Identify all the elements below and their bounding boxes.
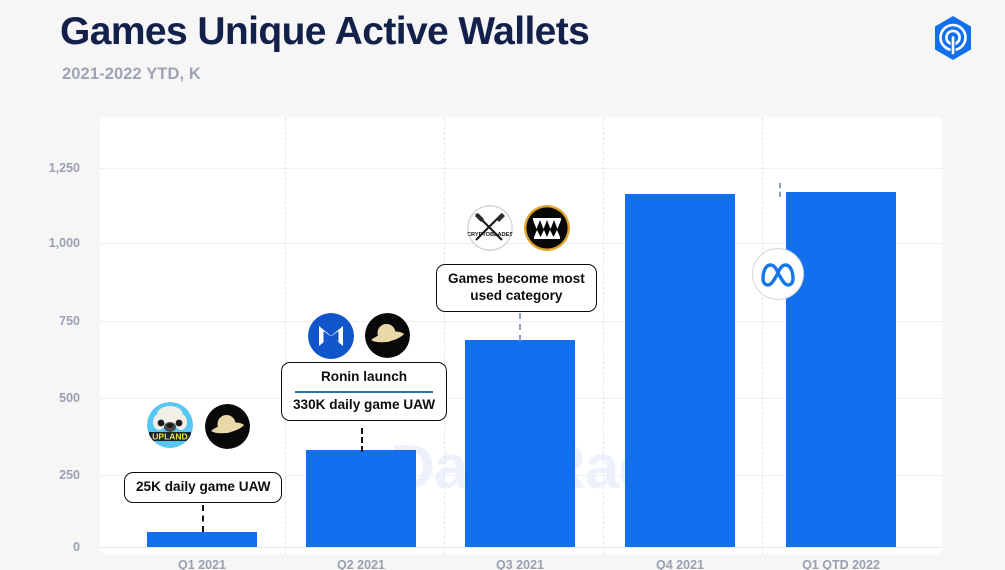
- category-separator-4: [762, 117, 763, 554]
- y-tick-500: 500: [0, 391, 80, 405]
- annotation-divider: [295, 391, 433, 393]
- category-separator-2: [444, 117, 445, 554]
- y-tick-0: 0: [0, 540, 80, 554]
- y-tick-250: 250: [0, 468, 80, 482]
- annotation-q3-line1: Games become most: [448, 271, 585, 288]
- x-tick-q1-2021: Q1 2021: [122, 558, 282, 570]
- bar-q2-2021[interactable]: [306, 450, 416, 547]
- annotation-q3-2021: Games become most used category: [436, 264, 597, 312]
- plot-area: DappRadar: [100, 117, 942, 554]
- svg-text:CRYPTOBLADES: CRYPTOBLADES: [467, 232, 513, 238]
- annotation-q2-2021: Ronin launch 330K daily game UAW: [281, 362, 447, 421]
- axie-infinity-ronin-icon: [308, 313, 354, 359]
- annotation-q2-line1: Ronin launch: [293, 369, 435, 386]
- splinterlands-planet-icon: [365, 313, 410, 358]
- svg-text:UPLAND: UPLAND: [152, 431, 187, 441]
- y-tick-1000: 1,000: [0, 236, 80, 250]
- bar-q1-qtd-2022[interactable]: [786, 192, 896, 547]
- y-tick-1250: 1,250: [0, 161, 80, 175]
- x-tick-q2-2021: Q2 2021: [281, 558, 441, 570]
- x-tick-q3-2021: Q3 2021: [440, 558, 600, 570]
- gridline-0: [100, 547, 942, 548]
- chart-header: Games Unique Active Wallets 2021-2022 YT…: [0, 0, 1005, 112]
- annotation-q1-line1: 25K daily game UAW: [136, 479, 270, 496]
- dappradar-logo-icon: [927, 12, 979, 64]
- annotation-q3-line2: used category: [448, 288, 585, 305]
- x-tick-q4-2021: Q4 2021: [600, 558, 760, 570]
- bar-q3-2021[interactable]: [465, 340, 575, 547]
- splinterlands-planet-icon: [205, 404, 250, 449]
- bar-q4-2021[interactable]: [625, 194, 735, 547]
- category-separator-1: [285, 117, 286, 554]
- annotation-leader-q4: [779, 183, 781, 197]
- wolf-game-fangs-icon: [524, 205, 570, 251]
- gridline-1250: [100, 168, 942, 169]
- annotation-leader-q1: [202, 505, 204, 532]
- category-separator-3: [603, 117, 604, 554]
- chart-panel: DappRadar: [100, 117, 942, 554]
- chart-subtitle: 2021-2022 YTD, K: [62, 65, 201, 84]
- x-tick-q1-qtd-2022: Q1 QTD 2022: [761, 558, 921, 570]
- chart-page: Games Unique Active Wallets 2021-2022 YT…: [0, 0, 1005, 570]
- annotation-q2-line2: 330K daily game UAW: [293, 397, 435, 414]
- page-title: Games Unique Active Wallets: [60, 10, 589, 54]
- bar-q1-2021[interactable]: [147, 532, 257, 547]
- upland-logo-icon: UPLAND: [147, 402, 193, 448]
- meta-logo-icon: [752, 248, 804, 300]
- annotation-leader-q3: [519, 313, 521, 341]
- annotation-leader-q2: [361, 428, 363, 452]
- y-tick-750: 750: [0, 314, 80, 328]
- annotation-q1-2021: 25K daily game UAW: [124, 472, 282, 503]
- cryptoblades-icon: CRYPTOBLADES: [467, 205, 513, 251]
